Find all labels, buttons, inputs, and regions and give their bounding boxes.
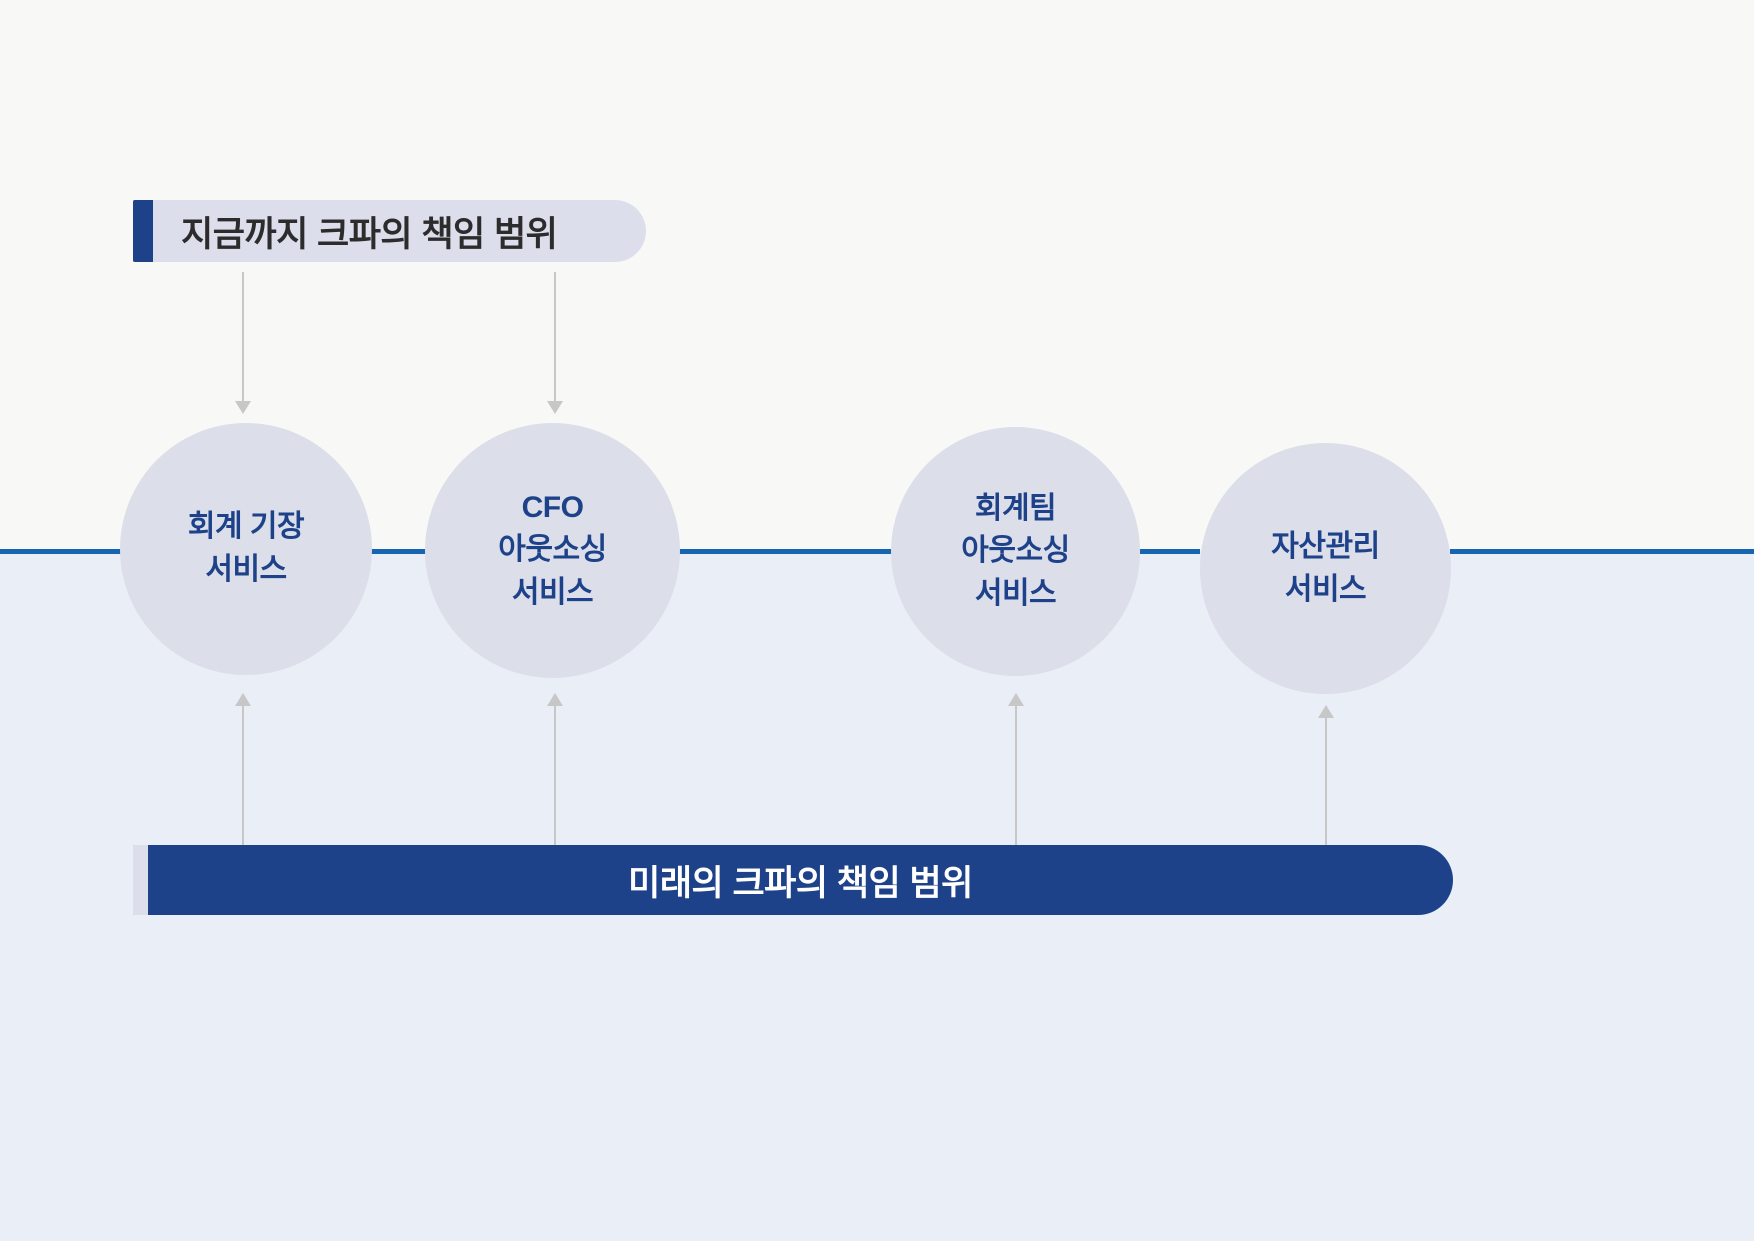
arrow-head xyxy=(1008,693,1024,706)
arrow-head xyxy=(1318,705,1334,718)
node-label: 자산관리 서비스 xyxy=(1271,526,1379,611)
arrow-head xyxy=(235,693,251,706)
arrow-shaft xyxy=(1325,718,1327,845)
node-label: CFO 아웃소싱 서비스 xyxy=(498,487,606,615)
arrow-up-to-accounting-team-outsourcing xyxy=(1004,693,1028,845)
arrow-down-to-cfo-outsourcing xyxy=(543,272,567,414)
arrow-up-to-accounting-bookkeeping xyxy=(231,693,255,845)
timeline-rule-segment-4 xyxy=(1140,549,1200,554)
node-cfo-outsourcing[interactable]: CFO 아웃소싱 서비스 xyxy=(425,423,680,678)
arrow-shaft xyxy=(554,706,556,845)
arrow-shaft xyxy=(554,272,556,401)
node-accounting-bookkeeping[interactable]: 회계 기장 서비스 xyxy=(120,423,372,675)
arrow-shaft xyxy=(242,272,244,401)
arrow-up-to-cfo-outsourcing xyxy=(543,693,567,845)
past-scope-bar-accent-tab xyxy=(133,200,153,262)
node-accounting-team-outsourcing[interactable]: 회계팀 아웃소싱 서비스 xyxy=(891,427,1140,676)
diagram-canvas: 지금까지 크파의 책임 범위 회계 기장 서비스 CFO 아웃소싱 서비스 회계… xyxy=(0,0,1754,1241)
arrow-up-to-asset-management xyxy=(1314,705,1338,845)
node-label: 회계팀 아웃소싱 서비스 xyxy=(961,488,1069,616)
timeline-rule-segment-5 xyxy=(1450,549,1754,554)
arrow-shaft xyxy=(1015,706,1017,845)
timeline-rule-segment-3 xyxy=(678,549,894,554)
future-scope-label: 미래의 크파의 책임 범위 xyxy=(628,855,973,906)
past-scope-label: 지금까지 크파의 책임 범위 xyxy=(181,206,557,257)
past-scope-bar[interactable]: 지금까지 크파의 책임 범위 xyxy=(133,200,646,262)
arrow-down-to-accounting-bookkeeping xyxy=(231,272,255,414)
future-scope-bar[interactable]: 미래의 크파의 책임 범위 xyxy=(148,845,1453,915)
node-label: 회계 기장 서비스 xyxy=(188,506,304,591)
timeline-rule-segment-1 xyxy=(0,549,124,554)
arrow-shaft xyxy=(242,706,244,845)
arrow-head xyxy=(547,693,563,706)
arrow-head xyxy=(235,401,251,414)
node-asset-management[interactable]: 자산관리 서비스 xyxy=(1200,443,1451,694)
arrow-head xyxy=(547,401,563,414)
